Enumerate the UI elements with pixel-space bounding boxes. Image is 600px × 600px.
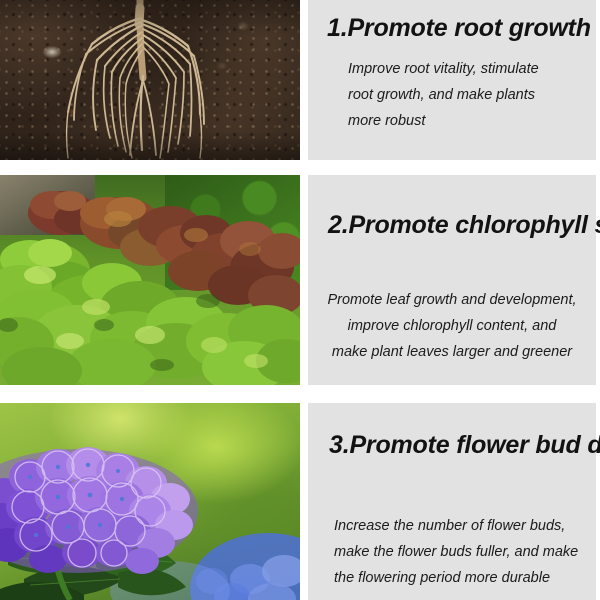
lettuce-plants-illustration xyxy=(0,175,300,385)
section-3-heading: 3.Promote flower bud differentiation xyxy=(329,426,600,464)
section-3-body: Increase the number of flower buds, make… xyxy=(334,513,578,591)
photo-plant-roots-in-soil xyxy=(0,0,300,160)
section-1-heading: 1.Promote root growth xyxy=(327,9,591,47)
benefit-section-3: 3.Promote flower bud differentiation Inc… xyxy=(0,403,600,600)
section-2-heading: 2.Promote chlorophyll synthesis xyxy=(328,206,600,244)
photo-purple-hydrangea xyxy=(0,403,300,600)
section-1-body: Improve root vitality, stimulate root gr… xyxy=(348,56,539,134)
text-panel-3: 3.Promote flower bud differentiation Inc… xyxy=(308,403,596,600)
text-panel-1: 1.Promote root growth Improve root vital… xyxy=(308,0,596,160)
section-2-body: Promote leaf growth and development, imp… xyxy=(308,287,596,365)
benefits-infographic: 1.Promote root growth Improve root vital… xyxy=(0,0,600,600)
benefit-section-2: 2.Promote chlorophyll synthesis Promote … xyxy=(0,175,600,385)
root-system-illustration xyxy=(0,0,300,160)
photo-lettuce-garden xyxy=(0,175,300,385)
benefit-section-1: 1.Promote root growth Improve root vital… xyxy=(0,0,600,160)
text-panel-2: 2.Promote chlorophyll synthesis Promote … xyxy=(308,175,596,385)
hydrangea-illustration xyxy=(0,403,300,600)
